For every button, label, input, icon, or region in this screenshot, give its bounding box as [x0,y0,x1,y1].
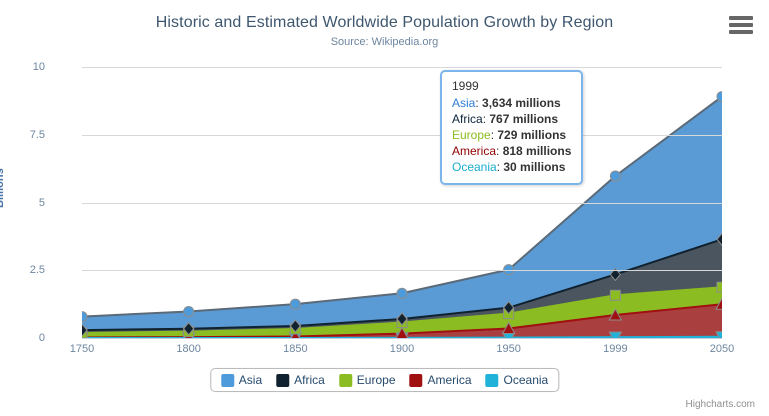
tooltip-series-value: 30 millions [503,160,565,174]
legend-label: Europe [357,373,396,387]
legend-swatch-icon [339,374,352,387]
hamburger-menu-icon[interactable] [729,16,753,36]
point-marker-asia[interactable] [184,306,194,316]
tooltip-row: America: 818 millions [452,143,571,159]
point-tooltip: 1999 Asia: 3,634 millionsAfrica: 767 mil… [440,70,583,185]
legend-item-asia[interactable]: Asia [221,373,262,387]
tooltip-row: Africa: 767 millions [452,111,571,127]
legend-label: Africa [294,373,325,387]
point-marker-asia[interactable] [290,299,300,309]
gridline [82,67,722,68]
legend-swatch-icon [276,374,289,387]
gridline [82,338,722,339]
tooltip-header: 1999 [452,79,571,93]
chart-title: Historic and Estimated Worldwide Populat… [0,14,769,32]
gridline [82,203,722,204]
menu-bar-2 [729,23,753,27]
point-marker-europe[interactable] [610,290,620,300]
legend-swatch-icon [221,374,234,387]
gridline [82,270,722,271]
tooltip-series-value: 767 millions [489,112,558,126]
y-axis-label: 2.5 [0,264,45,276]
legend-label: Asia [239,373,262,387]
point-marker-asia[interactable] [397,288,407,298]
x-axis-label: 1999 [603,343,627,355]
tooltip-series-name: Oceania [452,160,497,174]
legend-item-oceania[interactable]: Oceania [486,373,549,387]
tooltip-series-name: Europe [452,128,491,142]
legend-item-africa[interactable]: Africa [276,373,325,387]
tooltip-series-name: Africa [452,112,483,126]
highcharts-container: Historic and Estimated Worldwide Populat… [0,0,769,416]
point-marker-europe[interactable] [717,282,722,292]
tooltip-series-value: 818 millions [503,144,572,158]
legend-swatch-icon [486,374,499,387]
legend-item-europe[interactable]: Europe [339,373,396,387]
chart-subtitle: Source: Wikipedia.org [0,36,769,48]
x-axis-label: 1900 [390,343,414,355]
legend-swatch-icon [410,374,423,387]
y-axis-label: 5 [0,197,45,209]
credits-label: Highcharts.com [686,399,755,410]
y-axis-label: 0 [0,332,45,344]
tooltip-series-value: 3,634 millions [482,96,561,110]
tooltip-row: Oceania: 30 millions [452,159,571,175]
tooltip-series-name: Asia [452,96,475,110]
tooltip-series-name: America [452,144,496,158]
gridline [82,135,722,136]
x-axis-label: 1750 [70,343,94,355]
x-axis-label: 1950 [496,343,520,355]
legend-label: America [428,373,472,387]
chart-legend[interactable]: AsiaAfricaEuropeAmericaOceania [210,368,559,392]
tooltip-row: Europe: 729 millions [452,127,571,143]
tooltip-series-value: 729 millions [497,128,566,142]
menu-bar-1 [729,16,753,20]
x-axis-label: 1850 [283,343,307,355]
tooltip-row: Asia: 3,634 millions [452,95,571,111]
y-axis-label: 7.5 [0,129,45,141]
legend-label: Oceania [504,373,549,387]
menu-bar-3 [729,30,753,34]
plot-area [82,67,722,338]
x-axis-label: 2050 [710,343,734,355]
y-axis-label: 10 [0,61,45,73]
legend-item-america[interactable]: America [410,373,472,387]
x-axis-label: 1800 [176,343,200,355]
point-marker-asia[interactable] [610,171,620,181]
